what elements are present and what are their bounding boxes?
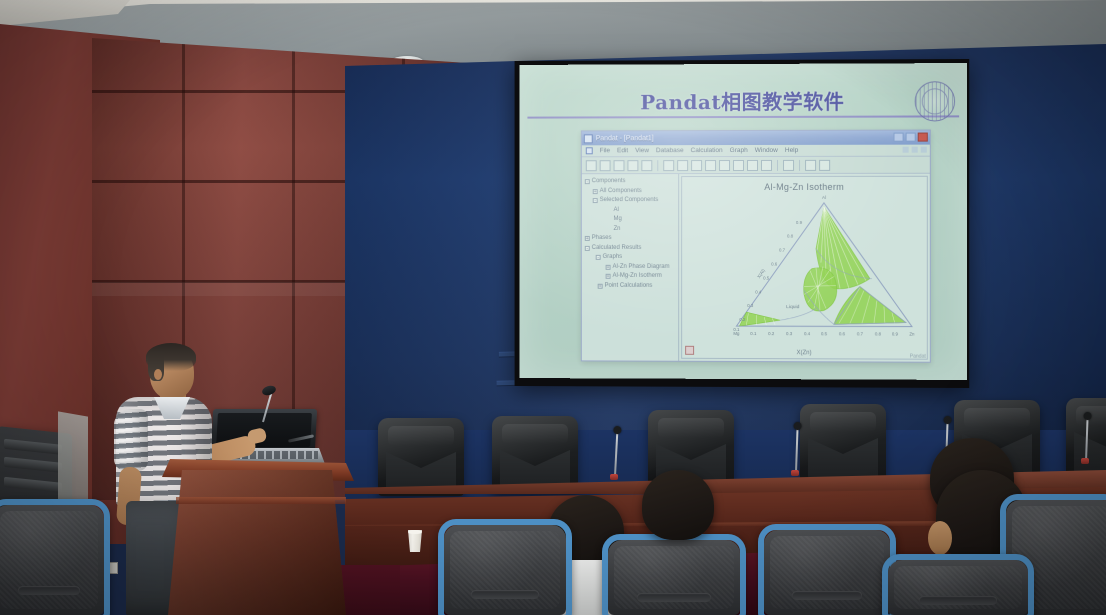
slide-divider [527, 115, 959, 118]
app-menu-bar: File Edit View Database Calculation Grap… [582, 145, 930, 158]
seat-handle [792, 591, 863, 600]
app-icon [584, 134, 593, 143]
menu-item-database[interactable]: Database [656, 147, 684, 154]
window-controls [894, 133, 928, 142]
open-folder-icon[interactable] [600, 160, 611, 171]
svg-text:0.1: 0.1 [750, 331, 757, 336]
svg-text:Zn: Zn [909, 332, 915, 337]
seat-handle [919, 596, 997, 605]
mdi-minimize-icon[interactable] [903, 147, 909, 153]
panel-chair [378, 418, 464, 496]
svg-text:0.8: 0.8 [875, 331, 882, 336]
label-icon[interactable] [747, 159, 758, 170]
tree-item-label: Al-Mg-Zn Isotherm [613, 272, 662, 282]
svg-text:0.4: 0.4 [804, 331, 811, 336]
app-window-title: Pandat - [Pandat1] [596, 135, 654, 142]
help-icon[interactable] [819, 159, 830, 170]
microphone-base [610, 474, 618, 480]
tree-item-label: Phases [592, 234, 612, 243]
svg-text:0.4: 0.4 [755, 289, 762, 294]
tree-item-phases[interactable]: + Phases [584, 234, 676, 244]
svg-text:0.5: 0.5 [821, 331, 828, 336]
annotation-liquid: Liquid [786, 304, 800, 310]
tree-item-label: Components [592, 177, 626, 187]
tree-item-al-mg-zn-isotherm[interactable]: + Al-Mg-Zn Isotherm [584, 272, 676, 282]
svg-text:0.3: 0.3 [747, 303, 754, 308]
copy-icon[interactable] [627, 160, 638, 171]
arrow-select-icon[interactable] [733, 159, 744, 170]
audience-seat [888, 560, 1028, 615]
menu-item-view[interactable]: View [635, 147, 649, 154]
mdi-restore-icon[interactable] [912, 147, 918, 153]
rack-slot [4, 439, 62, 455]
svg-text:0.2: 0.2 [768, 331, 775, 336]
document-icon [586, 147, 593, 154]
tree-item-components[interactable]: - Components [584, 177, 676, 187]
expander-icon[interactable]: - [593, 198, 598, 203]
seat-handle [637, 593, 711, 602]
tree-item-graphs[interactable]: - Graphs [584, 253, 676, 263]
pandat-application-window: Pandat - [Pandat1] File Edit View Databa… [581, 130, 931, 363]
microphone-base [1081, 458, 1089, 464]
app-toolbar [582, 157, 930, 175]
audience-seat [608, 540, 740, 615]
audience-face [928, 521, 952, 555]
toolbar-separator [777, 159, 778, 170]
audience-head [642, 470, 714, 540]
expander-icon[interactable]: + [593, 189, 598, 194]
tree-item-all-components[interactable]: + All Components [584, 187, 676, 197]
svg-text:0.8: 0.8 [787, 234, 794, 239]
close-icon[interactable] [918, 133, 928, 142]
ternary-plot: 0.9 0.8 0.7 0.6 0.5 0.4 0.3 0.2 0.1 [682, 191, 927, 341]
info-icon[interactable] [805, 159, 816, 170]
maximize-icon[interactable] [906, 133, 916, 142]
phase-region-lower-left [739, 312, 780, 326]
table-icon[interactable] [691, 160, 702, 171]
menu-item-graph[interactable]: Graph [730, 147, 748, 154]
tree-item-label: Selected Components [600, 196, 659, 206]
panel-chair [800, 404, 886, 482]
section-icon[interactable] [705, 160, 716, 171]
expander-icon[interactable]: + [606, 265, 611, 270]
panel-chair [492, 416, 578, 494]
x-axis-label: X(Zn) [682, 350, 927, 357]
tree-item-label: Calculated Results [592, 243, 642, 253]
tree-item-label: Al [614, 206, 619, 215]
app-body: - Components + All Components - Selected… [582, 174, 930, 362]
presenter-sleeve [114, 409, 148, 471]
audience-seat [444, 525, 566, 615]
binary-diagram-icon[interactable] [663, 160, 674, 171]
university-seal-icon [915, 81, 955, 121]
svg-text:0.7: 0.7 [857, 331, 864, 336]
svg-text:0.2: 0.2 [739, 317, 746, 322]
ternary-diagram-canvas[interactable]: Al-Mg-Zn Isotherm [681, 176, 928, 360]
ternary-plot-svg: 0.9 0.8 0.7 0.6 0.5 0.4 0.3 0.2 0.1 [682, 191, 927, 341]
menu-item-calculation[interactable]: Calculation [691, 147, 723, 154]
seat-handle [471, 590, 539, 599]
triangle-icon[interactable] [719, 160, 730, 171]
tree-item-label: Graphs [603, 253, 623, 262]
audience-seat [0, 505, 104, 615]
tree-item-al[interactable]: Al [584, 206, 676, 215]
svg-text:0.9: 0.9 [796, 220, 803, 225]
toolbar-separator [657, 160, 658, 171]
app-title-bar: Pandat - [Pandat1] [582, 131, 930, 146]
projected-slide: Pandat相图教学软件 Pandat - [Pandat1] File Edi… [520, 63, 968, 380]
print-icon[interactable] [641, 160, 652, 171]
svg-text:0.6: 0.6 [839, 331, 846, 336]
speaker-podium [168, 470, 346, 615]
expander-icon[interactable]: - [596, 255, 601, 260]
svg-text:0.6: 0.6 [771, 262, 778, 267]
minimize-icon[interactable] [894, 133, 904, 142]
tree-item-calculated-results[interactable]: - Calculated Results [584, 243, 676, 253]
tree-item-label: All Components [600, 187, 642, 197]
bottom-axis-ticks: Mg 0.1 0.2 0.3 0.4 0.5 0.6 0.7 0.8 0.9 Z [733, 331, 915, 337]
tree-item-label: Al-Zn Phase Diagram [613, 262, 670, 272]
svg-text:0.9: 0.9 [892, 331, 899, 336]
seat-handle [18, 586, 80, 595]
phase-region-center [804, 267, 837, 312]
presenter-ear [154, 369, 162, 380]
rack-slot [4, 457, 62, 473]
refresh-icon[interactable] [783, 159, 794, 170]
expander-icon[interactable]: + [606, 274, 611, 279]
expander-icon[interactable]: - [585, 246, 590, 251]
lecture-hall-photo: 工 金 Pandat相图教学软件 Pandat - [Pandat1] File [0, 0, 1106, 615]
phase-region-lower-right [834, 287, 906, 325]
expander-icon[interactable]: + [585, 236, 590, 241]
mdi-window-controls [903, 147, 927, 153]
svg-text:0.7: 0.7 [779, 248, 786, 253]
rack-slot [4, 477, 62, 493]
audience-seat [764, 530, 890, 615]
toolbar-separator [799, 159, 800, 170]
menu-item-help[interactable]: Help [785, 147, 798, 154]
mdi-close-icon[interactable] [921, 147, 927, 153]
podium-moulding [176, 497, 346, 504]
tree-item-label: Mg [614, 215, 622, 224]
tree-item-selected-components[interactable]: - Selected Components [584, 196, 676, 206]
svg-text:0.5: 0.5 [763, 275, 770, 280]
new-file-icon[interactable] [586, 160, 597, 171]
svg-text:Mg: Mg [733, 331, 740, 336]
tree-item-mg[interactable]: Mg [584, 215, 676, 224]
project-tree-panel[interactable]: - Components + All Components - Selected… [582, 174, 679, 361]
svg-text:0.3: 0.3 [786, 331, 793, 336]
expander-icon[interactable]: + [598, 284, 603, 289]
menu-item-edit[interactable]: Edit [617, 147, 628, 154]
tree-item-point-calculations[interactable]: + Point Calculations [584, 281, 676, 291]
tree-item-label: Zn [614, 224, 621, 233]
menu-item-window[interactable]: Window [755, 147, 778, 154]
tree-item-zn[interactable]: Zn [584, 224, 676, 233]
menu-item-file[interactable]: File [600, 147, 610, 154]
corner-label-al: Al [822, 195, 826, 200]
save-icon[interactable] [614, 160, 625, 171]
app-brand-label: Pandat [910, 354, 926, 360]
slide-title: Pandat相图教学软件 [520, 85, 968, 115]
microphone-base [791, 470, 799, 476]
tree-item-label: Point Calculations [605, 281, 653, 291]
expander-icon[interactable]: - [585, 179, 590, 184]
tree-item-al-zn-phase-diagram[interactable]: + Al-Zn Phase Diagram [584, 262, 676, 272]
zoom-icon[interactable] [761, 159, 772, 170]
ternary-diagram-icon[interactable] [677, 160, 688, 171]
